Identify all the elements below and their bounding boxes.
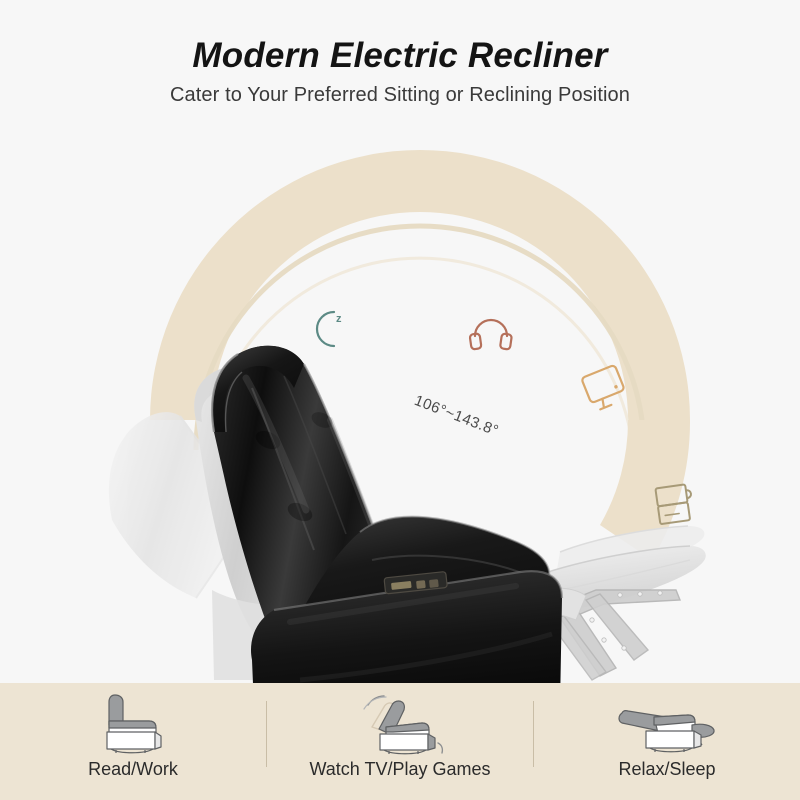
page-subtitle: Cater to Your Preferred Sitting or Recli… (0, 84, 800, 107)
feature-label: Relax/Sleep (618, 759, 715, 780)
recliner-illustration: z (0, 120, 800, 683)
feature-read-work[interactable]: Read/Work (0, 683, 266, 800)
svg-text:z: z (336, 313, 342, 325)
product-infographic: Modern Electric Recliner Cater to Your P… (0, 0, 800, 800)
page-title: Modern Electric Recliner (0, 36, 800, 76)
feature-watch-tv[interactable]: Watch TV/Play Games (267, 683, 533, 800)
feature-label: Watch TV/Play Games (309, 759, 490, 780)
product-scene: z (0, 120, 800, 683)
tv-icon (581, 365, 628, 412)
chair-tilted-icon (346, 691, 454, 757)
feature-label: Read/Work (88, 759, 178, 780)
feature-bar: Read/Work (0, 683, 800, 800)
feature-relax-sleep[interactable]: Relax/Sleep (534, 683, 800, 800)
chair-upright-icon (85, 691, 181, 757)
black-recliner-chair (212, 346, 562, 683)
moon-sleep-icon: z (317, 312, 342, 346)
chair-reclined-icon (614, 691, 720, 757)
headphones-icon (470, 320, 512, 350)
